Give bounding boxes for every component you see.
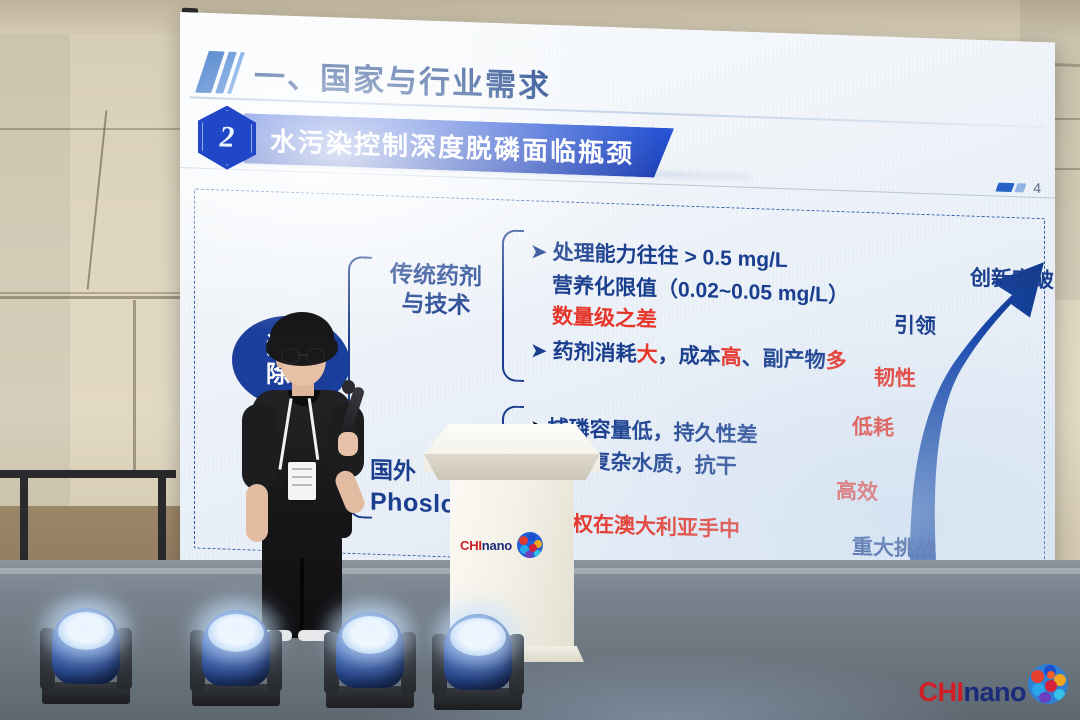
stage-light-4 <box>430 606 526 710</box>
podium-logo-nano: nano <box>482 538 512 553</box>
consume-seg1: 药剂消耗 <box>553 340 637 366</box>
keyword-leading: 引领 <box>894 309 936 340</box>
brace-traditional <box>502 229 524 382</box>
stage-light-1 <box>38 600 134 704</box>
section-number-text: 2 <box>220 120 235 155</box>
bullet-capacity-cn: 处理能力往往 <box>553 241 679 268</box>
light-lens-4 <box>450 618 506 656</box>
speaker-name-badge <box>288 462 316 500</box>
light-lens-2 <box>208 614 264 652</box>
podium-top-face <box>424 454 600 480</box>
page-number-mark-icon <box>996 182 1027 192</box>
keyword-challenge: 重大挑战 <box>852 530 936 563</box>
section-title-text: 水污染控制深度脱磷面临瓶颈 <box>270 121 634 171</box>
label-traditional-line1: 传统药剂 <box>376 259 496 293</box>
watermark-sphere-icon <box>1028 664 1068 704</box>
light-lens-1 <box>58 612 114 650</box>
keyword-innovation: 创新突破 <box>970 262 1054 295</box>
podium-logo: CHInano <box>460 532 543 558</box>
section-row: 2 水污染控制深度脱磷面临瓶颈 <box>198 105 674 186</box>
wall-conduit-vertical <box>133 300 136 478</box>
watermark-nano: nano <box>964 677 1027 707</box>
speaker-figure <box>236 312 368 638</box>
keyword-low-energy: 低耗 <box>852 410 894 441</box>
header-slash-icon <box>195 51 245 94</box>
consume-seg6: 多 <box>826 350 847 374</box>
bullet-eutro-cn: 营养化限值 <box>552 274 657 301</box>
podium-logo-sphere-icon <box>517 532 543 558</box>
slide-header: 一、国家与行业需求 <box>202 49 551 106</box>
stage-light-2 <box>188 602 284 706</box>
watermark-wordmark: CHInano <box>919 679 1027 706</box>
wall-panel-left <box>0 34 70 534</box>
conference-photo-scene: 一、国家与行业需求 2 水污染控制深度脱磷面临瓶颈 4 传统药剂 与技术 <box>0 0 1080 720</box>
bullet-eutro-value: （0.02~0.05 mg/L） <box>657 278 849 308</box>
section-title-bar: 水污染控制深度脱磷面临瓶颈 <box>244 113 674 178</box>
consume-seg3: ，成本 <box>658 344 721 369</box>
stage-light-3 <box>322 604 418 708</box>
page-number-group: 4 <box>997 179 1041 197</box>
light-lens-3 <box>342 616 398 654</box>
arrow-path <box>910 257 1044 570</box>
consume-seg4: 高 <box>721 346 742 370</box>
bullet-capacity-value: > 0.5 mg/L <box>684 246 787 273</box>
microphone-head <box>342 380 355 394</box>
glasses-icon <box>280 348 326 362</box>
keyword-efficient: 高效 <box>836 475 878 506</box>
consume-seg2: 大 <box>637 343 658 367</box>
bullet-arrow-icon-1: ➤ <box>530 240 548 264</box>
wall-conduit-horizontal <box>0 296 180 299</box>
watermark-chi: CHI <box>919 677 964 707</box>
consume-seg5: 、副产物 <box>742 347 826 373</box>
speaker-hand-right <box>338 432 358 456</box>
slide-header-title: 一、国家与行业需求 <box>254 51 551 106</box>
speaker-arm-left <box>246 484 268 542</box>
page-number-text: 4 <box>1033 180 1041 196</box>
bullet-arrow-icon-2: ➤ <box>530 339 548 363</box>
podium-logo-chi: CHI <box>460 538 482 553</box>
speaker-sleeve-left <box>242 404 276 490</box>
keyword-toughness: 韧性 <box>874 361 916 392</box>
label-traditional-agents: 传统药剂 与技术 <box>376 259 496 322</box>
label-traditional-line2: 与技术 <box>376 288 496 322</box>
podium-logo-text: CHInano <box>460 538 512 553</box>
speaker-leg-gap <box>300 558 304 638</box>
chinano-watermark: CHInano <box>919 664 1069 706</box>
